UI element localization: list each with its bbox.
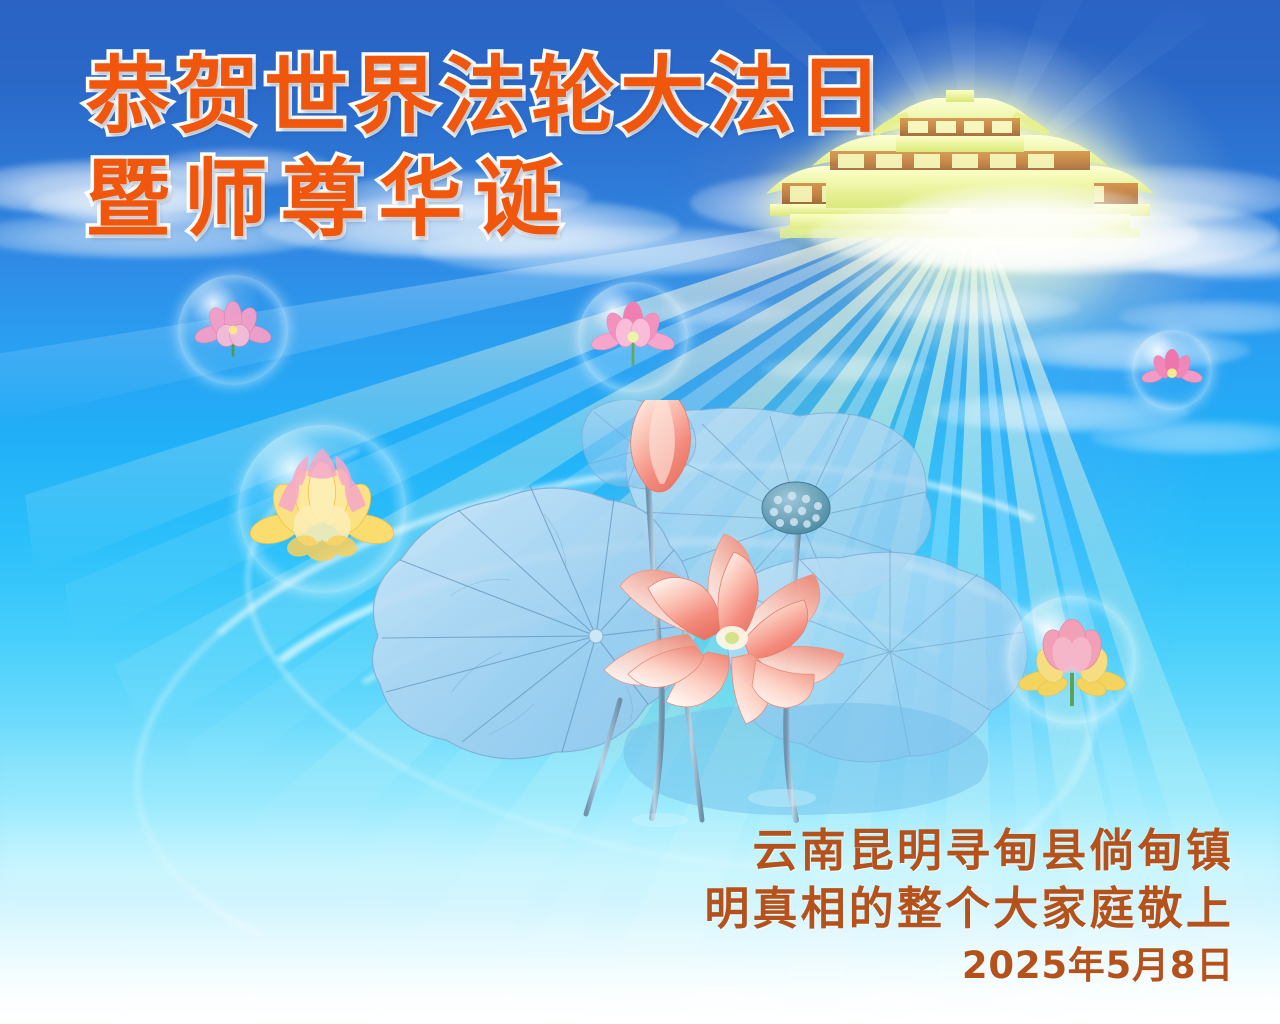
signature-line-2: 明真相的整个大家庭敬上 <box>704 882 1234 936</box>
bubble-lotus-pink-top-center <box>578 282 688 392</box>
greeting-card: 恭贺世界法轮大法日 暨师尊华诞 云南昆明寻甸县倘甸镇 明真相的整个大家庭敬上 2… <box>0 0 1280 1024</box>
signature-date: 2025年5月8日 <box>704 944 1234 988</box>
bubble-lotus-pink-yellow-right <box>1008 596 1136 724</box>
bubble-lotus-yellow-large <box>238 425 406 593</box>
lotus-scene <box>330 400 1030 850</box>
palace-cloud-base-2 <box>900 185 1150 235</box>
lotus-seed-pod <box>762 482 830 534</box>
bubble-lotus-pink-small-left <box>178 275 288 385</box>
bubble-lotus-pink-top-right <box>1132 330 1212 410</box>
lotus-leaf-main <box>372 486 689 759</box>
